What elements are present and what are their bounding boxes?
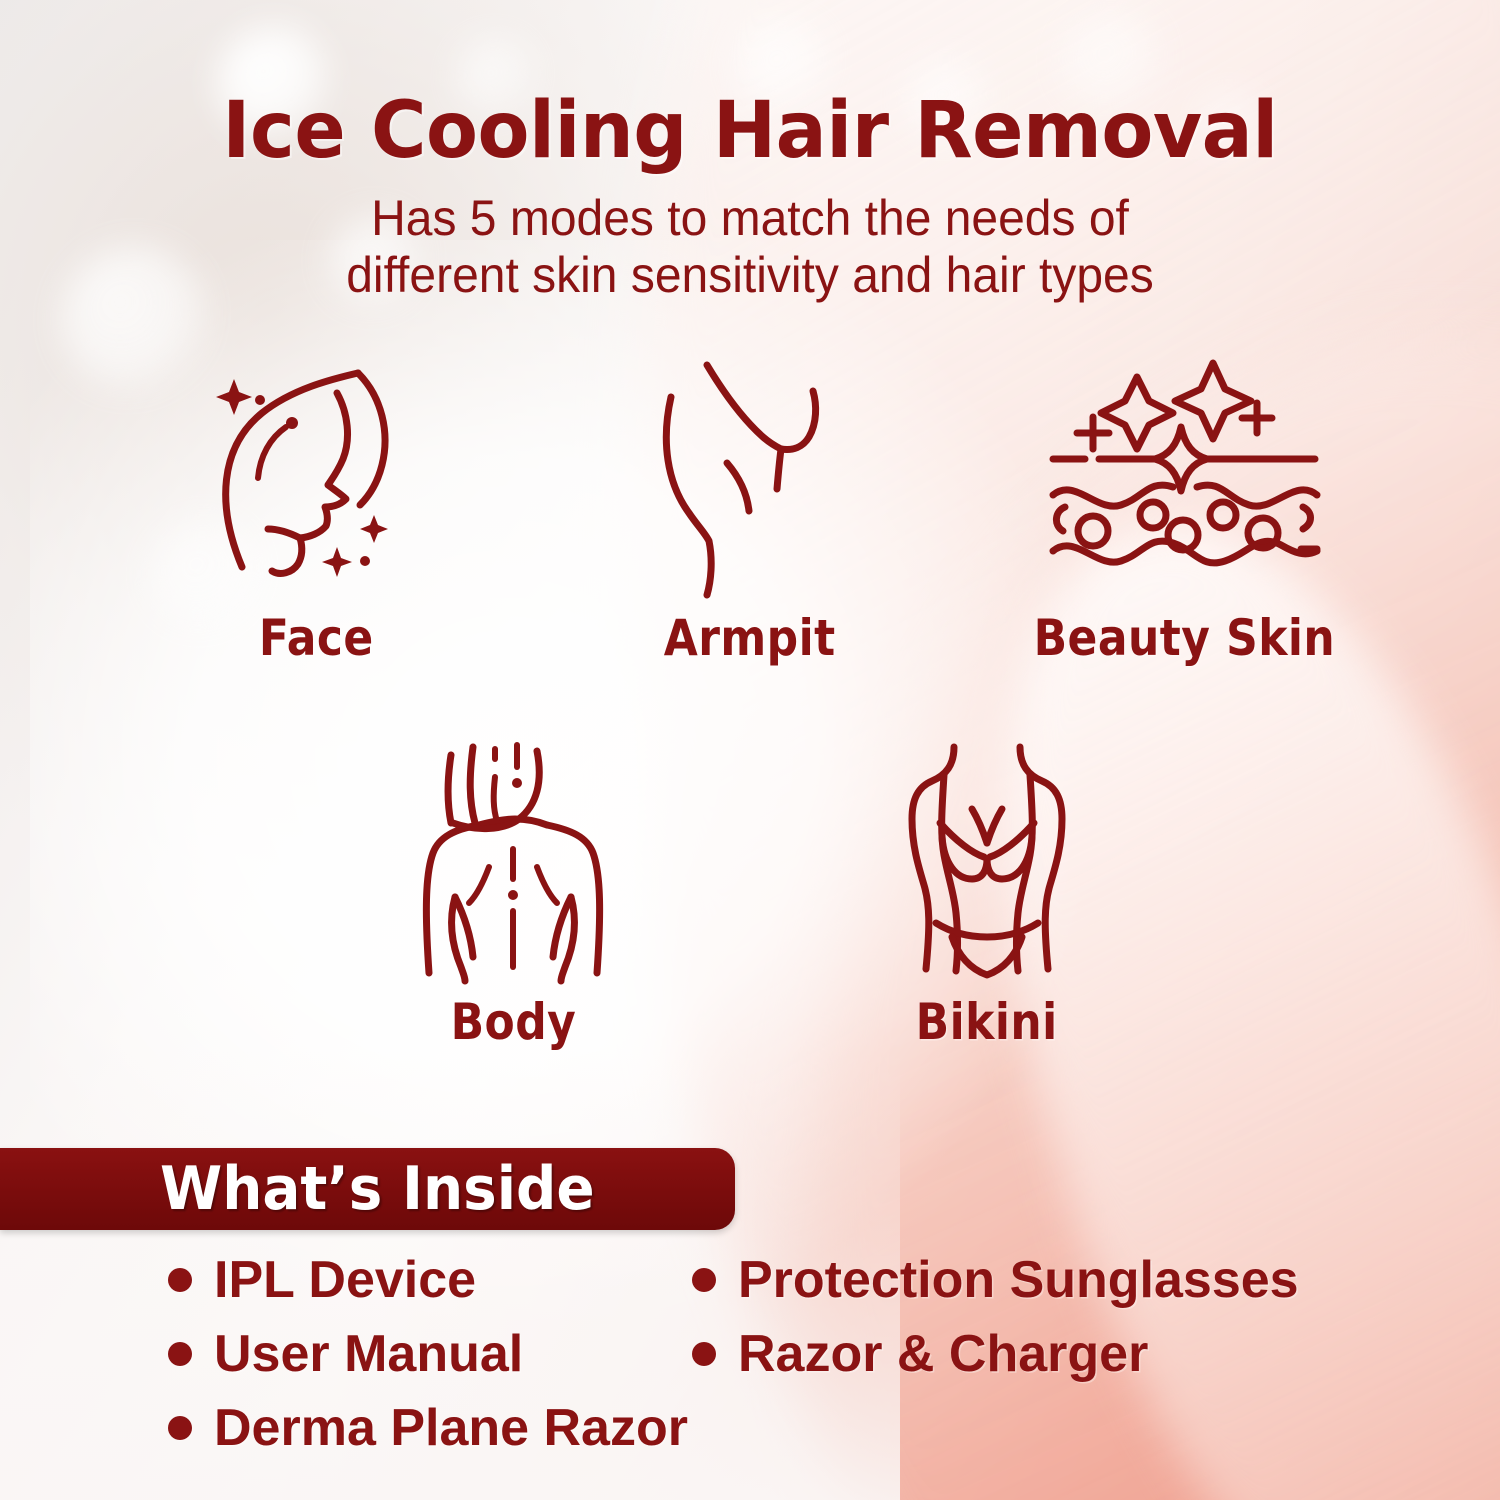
face-profile-icon	[206, 355, 426, 603]
list-item-label: Derma Plane Razor	[214, 1402, 688, 1454]
list-item: IPL Device	[168, 1243, 668, 1317]
whats-inside-right-column: Protection Sunglasses Razor & Charger	[692, 1243, 1452, 1465]
whats-inside-left-column: IPL Device User Manual Derma Plane Razor	[168, 1243, 668, 1465]
mode-item-bikini: Bikini	[834, 739, 1140, 1051]
list-item-label: Razor & Charger	[738, 1328, 1148, 1380]
body-back-icon	[407, 739, 619, 987]
bullet-dot-icon	[168, 1416, 192, 1440]
mode-label-armpit: Armpit	[664, 609, 836, 667]
list-item: Razor & Charger	[692, 1317, 1452, 1391]
list-item: User Manual	[168, 1317, 668, 1391]
bullet-dot-icon	[692, 1342, 716, 1366]
page-title: Ice Cooling Hair Removal	[23, 92, 1478, 172]
mode-label-bikini: Bikini	[916, 993, 1058, 1051]
mode-item-body: Body	[360, 739, 666, 1051]
bullet-dot-icon	[692, 1268, 716, 1292]
subtitle-line-1: Has 5 modes to match the needs of	[30, 190, 1470, 247]
list-item-label: IPL Device	[214, 1254, 476, 1306]
mode-item-face: Face	[163, 355, 469, 667]
whats-inside-title: What’s Inside	[160, 1143, 724, 1235]
mode-label-face: Face	[259, 609, 374, 667]
modes-row-bottom: Body	[0, 739, 1500, 1051]
modes-grid: Face Armpit	[0, 355, 1500, 1051]
header-block: Ice Cooling Hair Removal Has 5 modes to …	[0, 92, 1500, 304]
subtitle-line-2: different skin sensitivity and hair type…	[30, 247, 1470, 304]
mode-item-armpit: Armpit	[597, 355, 903, 667]
list-item-label: User Manual	[214, 1328, 523, 1380]
infographic-canvas: Ice Cooling Hair Removal Has 5 modes to …	[0, 0, 1500, 1500]
list-item-label: Protection Sunglasses	[738, 1254, 1299, 1306]
mode-item-beauty-skin: Beauty Skin	[1031, 355, 1337, 667]
bullet-dot-icon	[168, 1342, 192, 1366]
list-item: Protection Sunglasses	[692, 1243, 1452, 1317]
bikini-torso-icon	[884, 739, 1090, 987]
mode-label-body: Body	[450, 993, 576, 1051]
page-subtitle: Has 5 modes to match the needs of differ…	[30, 190, 1470, 304]
list-item: Derma Plane Razor	[168, 1391, 668, 1465]
whats-inside-lists: IPL Device User Manual Derma Plane Razor…	[168, 1243, 1458, 1465]
mode-label-beauty-skin: Beauty Skin	[1033, 609, 1335, 667]
armpit-icon	[645, 355, 855, 603]
beauty-skin-icon	[1045, 355, 1323, 603]
modes-row-top: Face Armpit	[0, 355, 1500, 667]
bullet-dot-icon	[168, 1268, 192, 1292]
